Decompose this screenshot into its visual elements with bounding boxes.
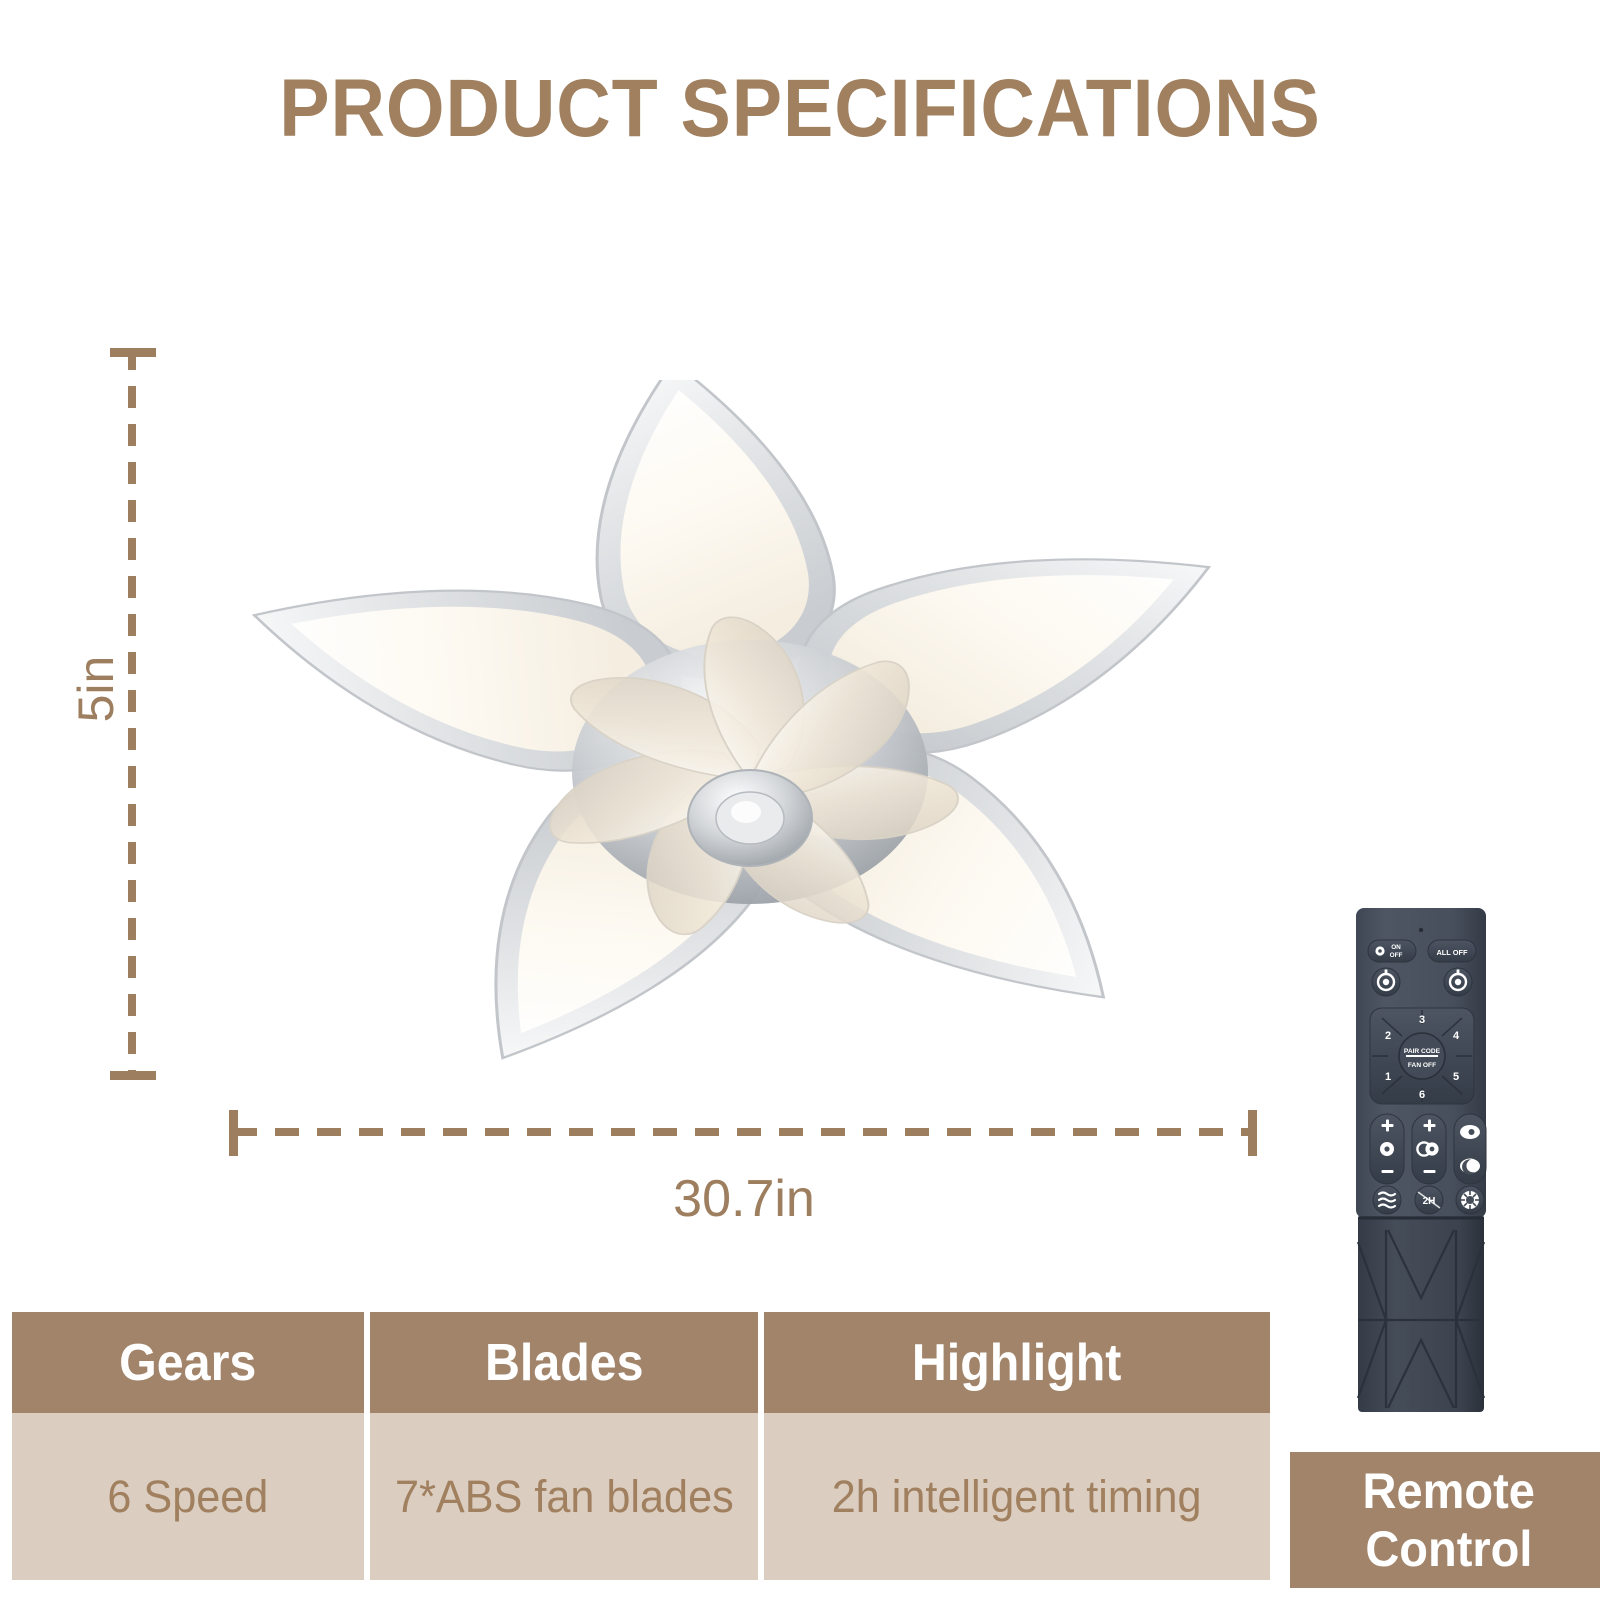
remote-button-breeze-mode[interactable] [1373, 1186, 1401, 1214]
width-dimension-cap-right [1248, 1110, 1257, 1156]
dial-number-5: 5 [1453, 1071, 1459, 1083]
dial-number-2: 2 [1385, 1030, 1391, 1042]
remote-battery-cover [1358, 1216, 1484, 1412]
remote-caption-line2: Control [1365, 1520, 1532, 1578]
spec-value-gears: 6 Speed [12, 1413, 364, 1580]
spec-header-blades: Blades [370, 1312, 758, 1413]
spec-value-blades: 7*ABS fan blades [370, 1413, 758, 1580]
width-dimension-label: 30.7in [233, 1168, 1255, 1230]
spec-column-blades: Blades 7*ABS fan blades [370, 1312, 758, 1580]
remote-control-illustration: ON OFF ALL OFF [1338, 900, 1518, 1420]
ir-emitter-icon [1419, 928, 1423, 932]
remote-day-night-control[interactable] [1454, 1114, 1486, 1184]
spec-header-highlight: Highlight [764, 1312, 1270, 1413]
dial-center-fan-off-label: FAN OFF [1408, 1062, 1436, 1069]
remote-button-light-group-1[interactable] [1372, 968, 1400, 996]
svg-text:ON: ON [1391, 944, 1401, 951]
brightness-icon [1380, 1142, 1394, 1156]
brightness-minus-icon [1382, 1170, 1394, 1173]
width-dimension-line [233, 1128, 1255, 1136]
color-temp-minus-icon [1424, 1170, 1436, 1173]
spec-value-blades-text: 7*ABS fan blades [395, 1468, 734, 1525]
remote-control-image: ON OFF ALL OFF [1338, 900, 1518, 1420]
daylight-icon [1460, 1125, 1480, 1139]
spec-column-highlight: Highlight 2h intelligent timing [764, 1312, 1270, 1580]
dial-number-1: 1 [1385, 1071, 1391, 1083]
page-title: PRODUCT SPECIFICATIONS [64, 62, 1536, 156]
svg-text:OFF: OFF [1390, 952, 1403, 959]
dial-number-4: 4 [1453, 1030, 1460, 1042]
remote-button-light-group-2[interactable] [1444, 968, 1472, 996]
ceiling-fan-illustration [180, 380, 1310, 1080]
dial-number-6: 6 [1419, 1089, 1425, 1101]
spec-header-blades-label: Blades [485, 1334, 644, 1392]
fan-hub-highlight [731, 801, 761, 823]
height-dimension-label: 5in [67, 629, 125, 749]
remote-control-caption: Remote Control [1290, 1452, 1600, 1588]
spec-value-gears-text: 6 Speed [108, 1468, 269, 1525]
spec-value-highlight: 2h intelligent timing [764, 1413, 1270, 1580]
svg-text:ALL OFF: ALL OFF [1436, 948, 1468, 957]
remote-button-fan-speed[interactable] [1456, 1186, 1484, 1214]
product-image [180, 380, 1310, 1080]
spec-table: Gears 6 Speed Blades 7*ABS fan blades Hi… [12, 1312, 1270, 1580]
remote-color-temp-control[interactable] [1412, 1114, 1446, 1184]
height-dimension-cap-bottom [110, 1071, 156, 1080]
remote-speed-dial[interactable]: 3 2 4 1 5 6 PAIR CODE FAN OFF [1370, 1008, 1474, 1104]
spec-value-highlight-text: 2h intelligent timing [832, 1468, 1202, 1525]
dial-center-pair-code-label: PAIR CODE [1404, 1048, 1441, 1055]
remote-caption-line1: Remote [1363, 1462, 1535, 1520]
remote-button-on-off[interactable]: ON OFF [1368, 940, 1416, 962]
dial-number-3: 3 [1419, 1014, 1425, 1026]
spec-header-gears-label: Gears [119, 1334, 256, 1392]
remote-button-timer-2h[interactable]: 2H [1415, 1186, 1443, 1214]
spec-column-gears: Gears 6 Speed [12, 1312, 364, 1580]
remote-button-all-off[interactable]: ALL OFF [1428, 940, 1476, 962]
spec-header-highlight-label: Highlight [912, 1334, 1121, 1392]
remote-brightness-control[interactable] [1370, 1114, 1404, 1184]
height-dimension-line [128, 348, 136, 1080]
spec-header-gears: Gears [12, 1312, 364, 1413]
